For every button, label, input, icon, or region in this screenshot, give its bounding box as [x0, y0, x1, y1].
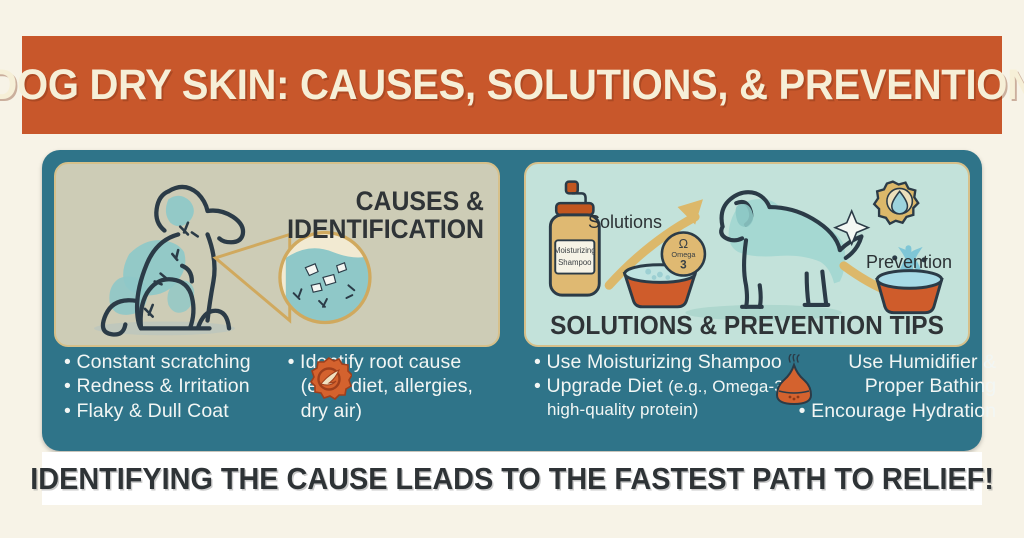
title-banner: DOG DRY SKIN: CAUSES, SOLUTIONS, & PREVE…: [22, 36, 1002, 134]
list-item: • Flaky & Dull Coat: [64, 399, 278, 423]
shampoo-label-line2: Shampoo: [558, 258, 592, 267]
solutions-illustration-card: Moisturizing Shampoo: [524, 162, 970, 347]
causes-heading-line1: CAUSES &: [287, 188, 484, 216]
solutions-arrow-label: Solutions: [588, 212, 662, 233]
solutions-bullets-right: Use Humidifier & Proper Bathing • Encour…: [793, 350, 997, 447]
solutions-panel: Moisturizing Shampoo: [512, 150, 982, 451]
causes-heading: CAUSES & IDENTIFICATION: [287, 188, 484, 243]
causes-bullets-left: • Constant scratching • Redness & Irrita…: [54, 350, 278, 447]
list-item-detail: (e.g., Omega-3,: [668, 377, 789, 396]
page-title: DOG DRY SKIN: CAUSES, SOLUTIONS, & PREVE…: [0, 61, 1024, 110]
water-drop-gear-icon: [874, 182, 918, 224]
shampoo-bottle: Moisturizing Shampoo: [550, 182, 599, 295]
causes-illustration-card: CAUSES & IDENTIFICATION: [54, 162, 500, 347]
list-item-detail: high-quality protein): [534, 399, 789, 420]
causes-panel: CAUSES & IDENTIFICATION • Constant scrat…: [42, 150, 512, 451]
solutions-bullets-left: • Use Moisturizing Shampoo • Upgrade Die…: [524, 350, 789, 447]
causes-bullets: • Constant scratching • Redness & Irrita…: [54, 350, 500, 447]
gear-leaf-icon: [306, 356, 352, 402]
causes-heading-line2: IDENTIFICATION: [287, 216, 484, 244]
list-item-main: • Upgrade Diet: [534, 375, 663, 397]
bottom-banner: IDENTIFYING THE CAUSE LEADS TO THE FASTE…: [42, 452, 982, 505]
humidifier-icon: [774, 354, 814, 406]
solutions-bullets: • Use Moisturizing Shampoo • Upgrade Die…: [524, 350, 970, 447]
standing-healthy-dog: [721, 192, 861, 307]
list-item: • Encourage Hydration: [799, 399, 997, 423]
solutions-heading: SOLUTIONS & PREVENTION TIPS: [539, 310, 954, 341]
list-item: Use Humidifier &: [799, 350, 997, 374]
prevention-arrow-label: Prevention: [866, 252, 952, 273]
list-item-detail: dry air): [288, 399, 500, 423]
list-item: • Use Moisturizing Shampoo: [534, 350, 789, 374]
shampoo-label-line1: Moisturizing: [554, 246, 596, 255]
main-board: CAUSES & IDENTIFICATION • Constant scrat…: [42, 150, 982, 451]
list-item-detail: Proper Bathing: [799, 374, 997, 398]
list-item: • Redness & Irritation: [64, 374, 278, 398]
list-item: • Constant scratching: [64, 350, 278, 374]
omega-symbol: Ω: [679, 236, 689, 251]
bottom-banner-text: IDENTIFYING THE CAUSE LEADS TO THE FASTE…: [30, 461, 994, 497]
omega-label: Omega: [671, 250, 696, 259]
list-item: • Upgrade Diet (e.g., Omega-3,: [534, 374, 789, 398]
omega-number: 3: [680, 259, 687, 272]
omega-3-badge: Ω Omega 3: [662, 232, 705, 275]
infographic-page: DOG DRY SKIN: CAUSES, SOLUTIONS, & PREVE…: [0, 0, 1024, 538]
